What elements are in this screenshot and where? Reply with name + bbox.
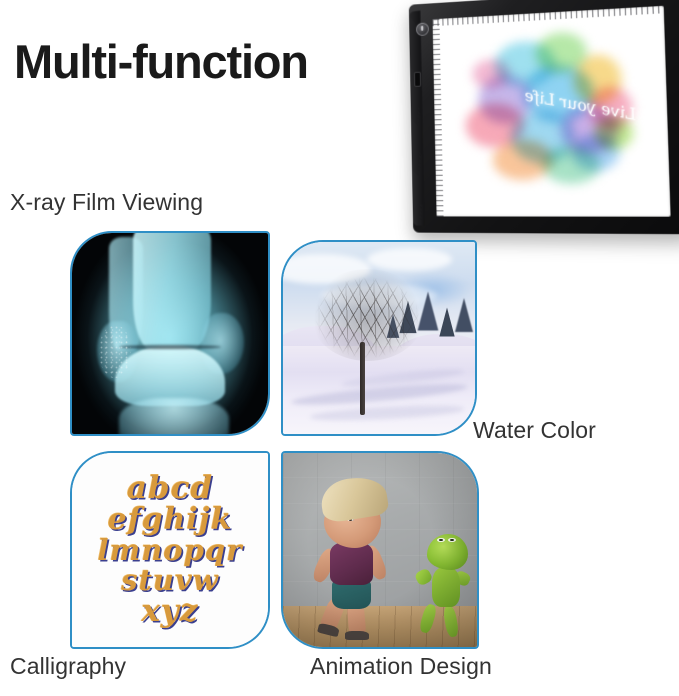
calligraphy-row: abcd: [127, 473, 213, 504]
calligraphy-row: stuvw: [121, 566, 219, 595]
usb-port: [414, 72, 421, 87]
feature-tile-xray: [70, 231, 270, 436]
calligraphy-image: abcd efghijk lmnopqr stuvw xyz: [72, 453, 268, 647]
caption-calligraphy: Calligraphy: [10, 653, 126, 680]
xray-image: [72, 233, 268, 434]
device-screen: Live your Life: [432, 6, 670, 217]
xray-soft-tissue-glow: [72, 233, 268, 434]
led-light-pad-device: Live your Life: [411, 4, 676, 232]
caption-xray-film-viewing: X-ray Film Viewing: [10, 189, 203, 216]
power-icon[interactable]: [416, 23, 429, 37]
calligraphy-alphabet: abcd efghijk lmnopqr stuvw xyz: [72, 453, 268, 647]
page-title: Multi-function: [14, 38, 308, 85]
conifer-tree: [455, 298, 473, 332]
conifer-tree: [439, 308, 454, 337]
device-left-edge: [409, 10, 425, 226]
snow-landscape-image: [283, 242, 475, 434]
feature-tile-water-color: [281, 240, 477, 436]
bare-tree-branches: [306, 265, 429, 361]
bare-tree-trunk: [360, 342, 365, 415]
caption-animation-design: Animation Design: [310, 653, 492, 680]
vignette: [283, 453, 477, 647]
animation-character-image: [283, 453, 477, 647]
feature-tile-calligraphy: abcd efghijk lmnopqr stuvw xyz: [70, 451, 270, 649]
calligraphy-row: efghijk: [108, 505, 233, 535]
caption-water-color: Water Color: [473, 417, 596, 444]
feature-tile-animation: [281, 451, 479, 649]
calligraphy-row: lmnopqr: [98, 536, 243, 565]
device-body: Live your Life: [409, 0, 679, 234]
calligraphy-row: xyz: [141, 596, 198, 627]
